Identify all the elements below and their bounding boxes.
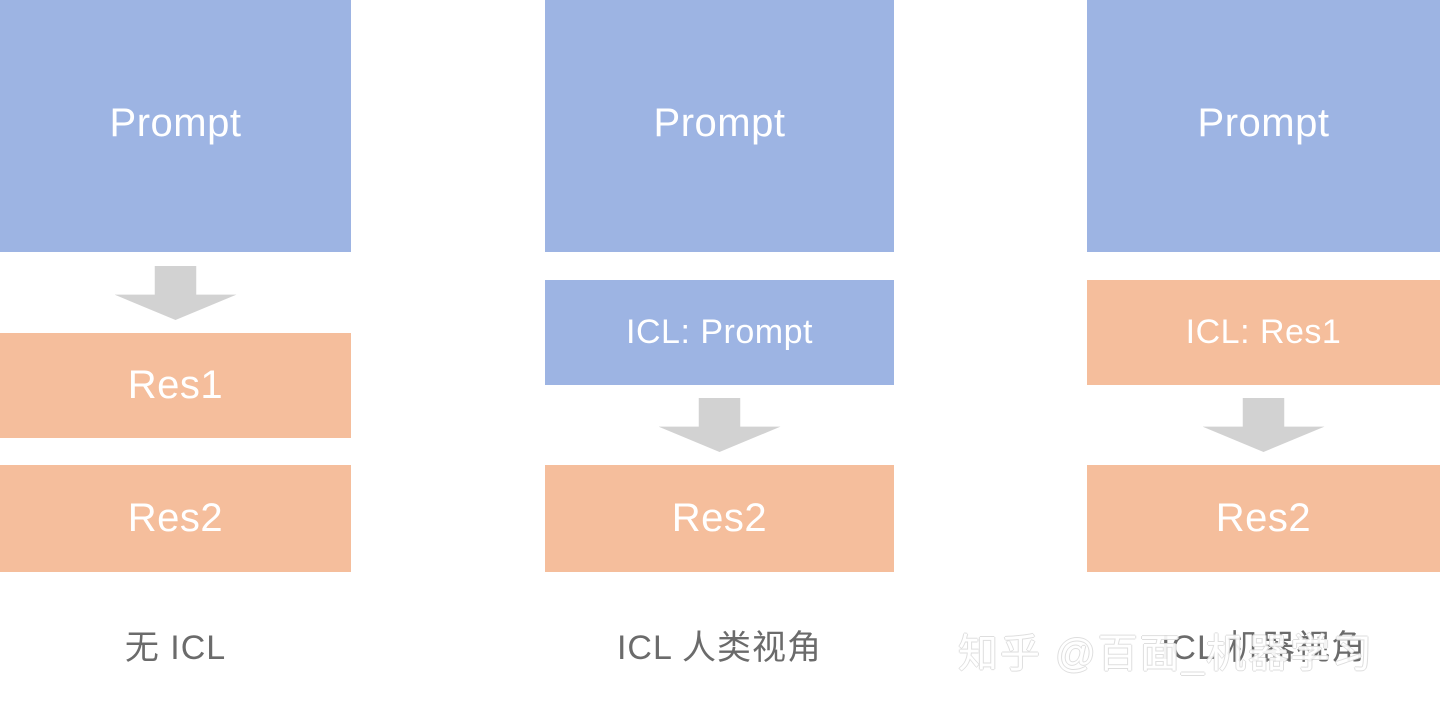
arrow-down-icon [659,398,781,452]
arrow-down-shape [1203,398,1325,452]
column-icl-human-view: Prompt ICL: Prompt Res2 ICL 人类视角 [545,0,894,707]
diagram-canvas: Prompt Res1 Res2 无 ICL Prompt ICL: Promp… [0,0,1440,707]
block-prompt: Prompt [0,0,351,252]
column-icl-machine-view: Prompt ICL: Res1 Res2 ICL 机器视角 [1087,0,1440,707]
block-res2: Res2 [545,465,894,572]
column-caption-no-icl: 无 ICL [0,620,351,669]
arrow-down-shape [659,398,781,452]
block-res1: Res1 [0,333,351,438]
column-caption-icl-human-view: ICL 人类视角 [545,620,894,669]
block-res2: Res2 [0,465,351,572]
block-icl-res1: ICL: Res1 [1087,280,1440,385]
arrow-down-shape [115,266,237,320]
block-res2: Res2 [1087,465,1440,572]
block-prompt: Prompt [545,0,894,252]
arrow-down-icon [1203,398,1325,452]
arrow-down-icon [115,266,237,320]
block-icl-prompt: ICL: Prompt [545,280,894,385]
block-prompt: Prompt [1087,0,1440,252]
column-caption-icl-machine-view: ICL 机器视角 [1087,620,1440,669]
column-no-icl: Prompt Res1 Res2 无 ICL [0,0,351,707]
